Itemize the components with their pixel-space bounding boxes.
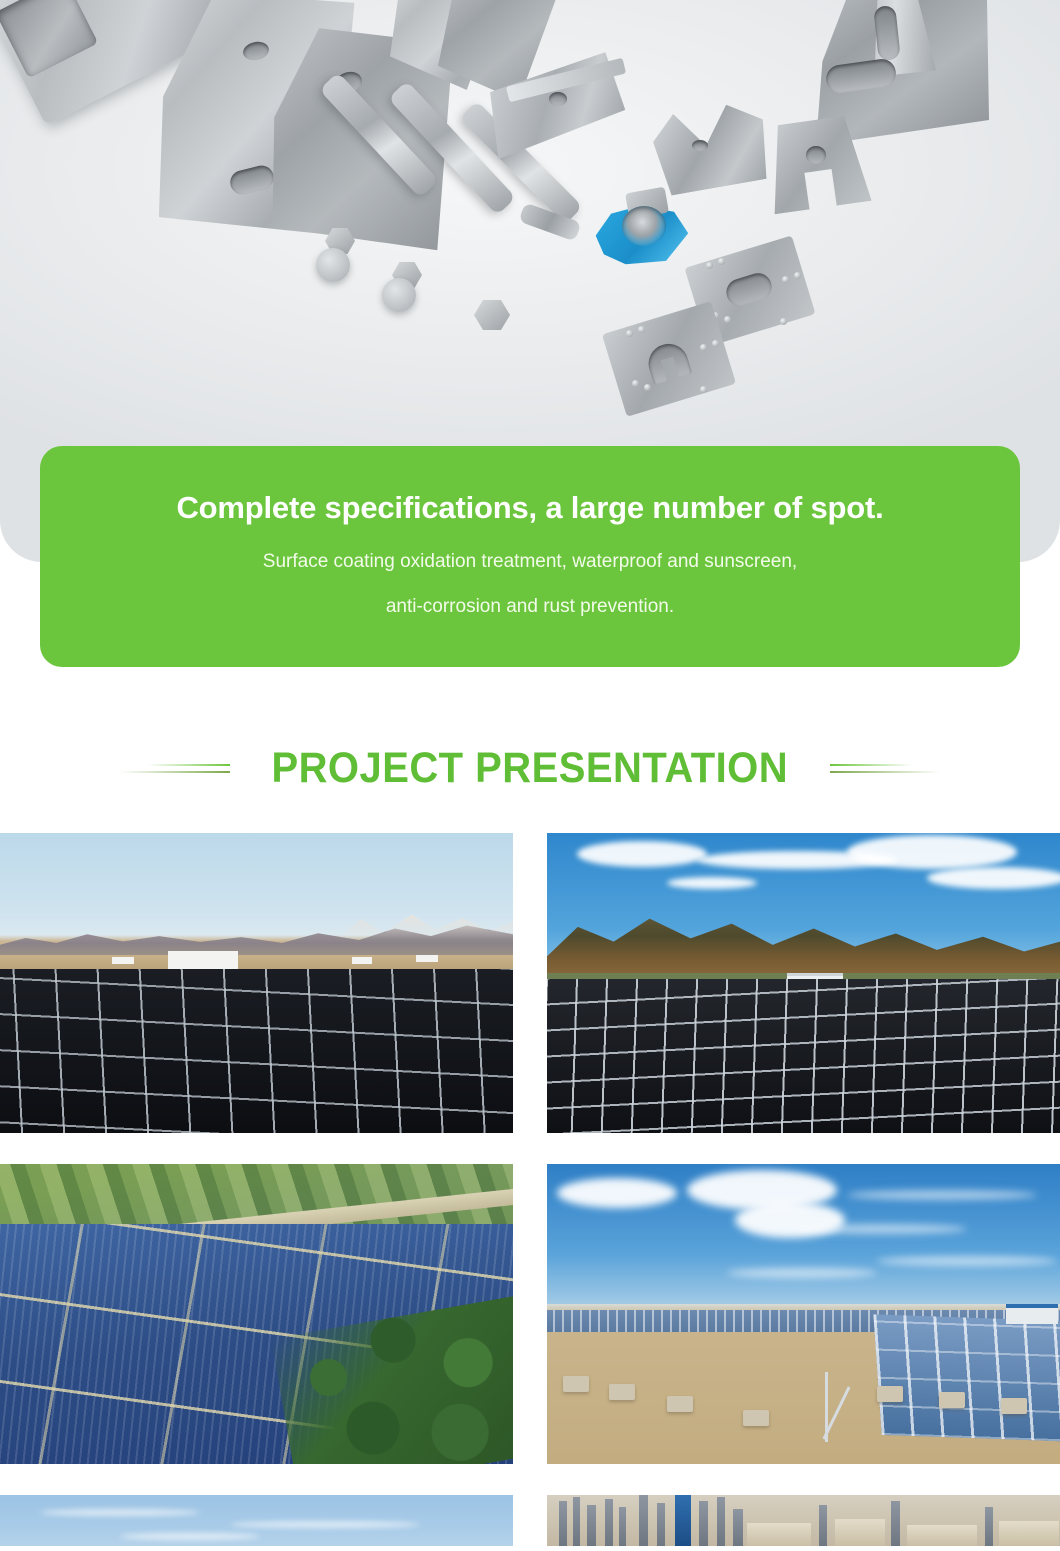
- heading-rule-right-icon: [830, 759, 940, 777]
- plate-weld-nub: [644, 384, 651, 391]
- section-title: PROJECT PRESENTATION: [272, 744, 789, 793]
- desert-solar-farm-image: [0, 833, 513, 1133]
- feature-banner-subtitle-line-1: Surface coating oxidation treatment, wat…: [263, 552, 797, 571]
- tilted-panel-array-image: [547, 1164, 1060, 1464]
- bolt-1-washer: [316, 248, 350, 282]
- plate-weld-nub: [700, 386, 707, 393]
- plate-weld-nub: [700, 344, 707, 351]
- project-presentation-heading: PROJECT PRESENTATION: [0, 718, 1060, 818]
- project-photo-5[interactable]: [0, 1495, 513, 1546]
- plate-weld-nub: [718, 258, 725, 265]
- industrial-cityscape-image: [547, 1495, 1060, 1546]
- plate-weld-nub: [706, 262, 713, 269]
- project-photo-4[interactable]: [547, 1164, 1060, 1464]
- project-photo-3[interactable]: [0, 1164, 513, 1464]
- feature-banner-title: Complete specifications, a large number …: [177, 490, 884, 526]
- plate-weld-nub: [626, 330, 633, 337]
- plate-weld-nub: [780, 318, 787, 325]
- feature-banner-subtitle-line-2: anti-corrosion and rust prevention.: [386, 597, 674, 616]
- project-photo-1[interactable]: [0, 833, 513, 1133]
- project-photo-2[interactable]: [547, 833, 1060, 1133]
- t-block-hole: [806, 146, 826, 164]
- blue-clip-nut-core: [622, 206, 666, 246]
- bolt-2-washer: [382, 278, 416, 312]
- plate-weld-nub: [638, 326, 645, 333]
- project-gallery-grid: [0, 833, 1060, 1546]
- end-clamp-hole: [549, 92, 567, 106]
- aerial-blue-solar-field-image: [0, 1164, 513, 1464]
- mid-clamp-hole: [692, 140, 708, 151]
- plate-weld-nub: [724, 316, 731, 323]
- plate-weld-nub: [782, 276, 789, 283]
- feature-banner-card: Complete specifications, a large number …: [40, 446, 1020, 667]
- project-photo-6[interactable]: [547, 1495, 1060, 1546]
- aluminum-mid-clamp-part: [649, 99, 773, 197]
- weld-nut-plate-u-part: [602, 301, 736, 417]
- plate-weld-nub: [794, 272, 801, 279]
- plate-weld-nub: [712, 340, 719, 347]
- plate-weld-nub: [632, 380, 639, 387]
- hex-bolt-head: [474, 300, 510, 330]
- blue-sky-image: [0, 1495, 513, 1546]
- rail-cavity: [0, 0, 98, 78]
- heading-rule-left-icon: [120, 759, 230, 777]
- hillside-solar-farm-image: [547, 833, 1060, 1133]
